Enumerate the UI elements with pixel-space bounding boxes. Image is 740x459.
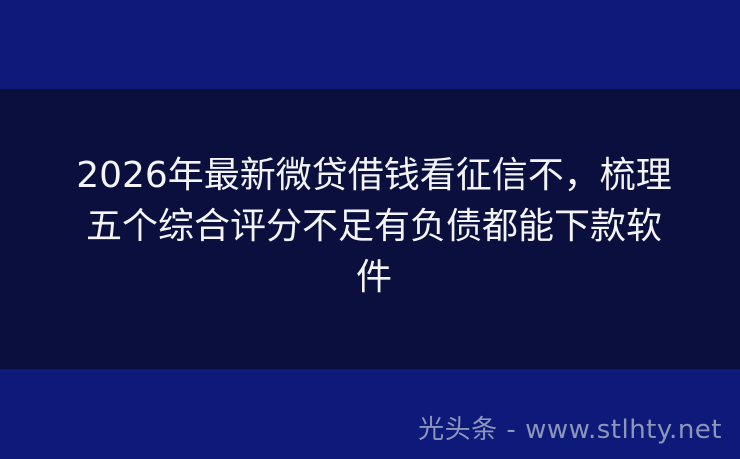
site-watermark: 光头条 - www.stlhty.net — [418, 414, 722, 446]
page-title: 2026年最新微贷借钱看征信不，梳理 五个综合评分不足有负债都能下款软 件 — [44, 150, 704, 303]
article-cover-image: 2026年最新微贷借钱看征信不，梳理 五个综合评分不足有负债都能下款软 件 光头… — [0, 0, 740, 459]
title-line-3: 件 — [44, 252, 704, 303]
title-line-2: 五个综合评分不足有负债都能下款软 — [44, 201, 704, 252]
top-accent-band — [0, 0, 740, 89]
title-line-1: 2026年最新微贷借钱看征信不，梳理 — [44, 150, 704, 201]
